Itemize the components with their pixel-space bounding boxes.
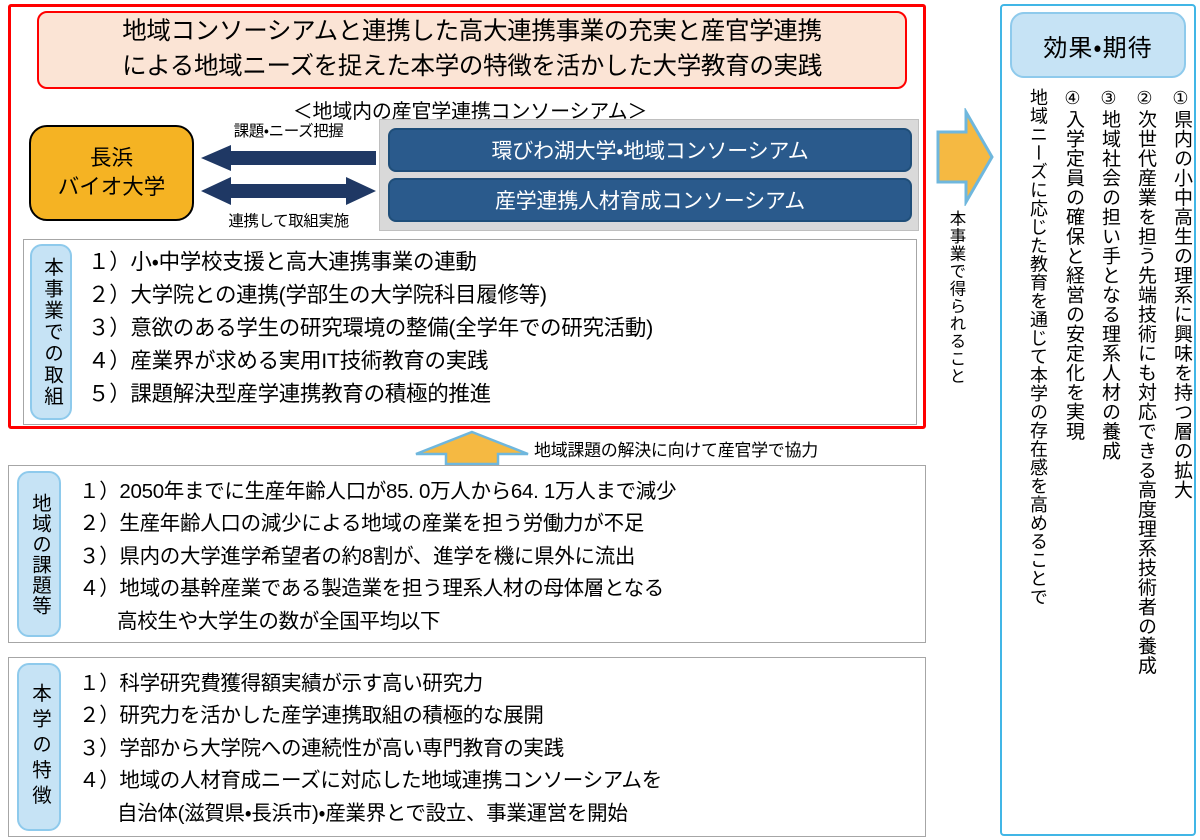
- effect-text-2: 次世代産業を担う先端技術にも対応できる高度理系技術者の養成: [1135, 110, 1156, 676]
- consortium-member-2: 産学連携人材育成コンソーシアム: [388, 178, 912, 222]
- effects-panel-heading: 効果・期待: [1010, 12, 1186, 78]
- list-item: 自治体(滋賀県・長浜市)・産業界とで設立、事業運営を開始: [79, 798, 919, 830]
- effect-column-4: ④入学定員の確保と経営の安定化を実現: [1053, 88, 1083, 441]
- consortium-member-1: 環びわ湖大学・地域コンソーシアム: [388, 128, 912, 172]
- list-item: ２）大学院との連携(学部生の大学院科目履修等): [88, 279, 912, 312]
- effect-number-4: ④: [1064, 88, 1082, 110]
- list-item: ４）地域の人材育成ニーズに対応した地域連携コンソーシアムを: [79, 765, 919, 797]
- list-item: １）科学研究費獲得額実績が示す高い研究力: [79, 668, 919, 700]
- effect-text-4: 入学定員の確保と経営の安定化を実現: [1063, 110, 1084, 442]
- effect-column-3: ③地域社会の担い手となる理系人材の養成: [1089, 88, 1119, 461]
- consortium-member-group: 環びわ湖大学・地域コンソーシアム 産学連携人材育成コンソーシアム: [379, 119, 919, 231]
- main-diagram-column: 地域コンソーシアムと連携した高大連携事業の充実と産官学連携 による地域ニーズを捉…: [4, 2, 929, 838]
- list-item: ５）課題解決型産学連携教育の積極的推進: [88, 378, 912, 411]
- left-arrow-icon: [201, 145, 376, 171]
- effect-text-3: 地域社会の担い手となる理系人材の養成: [1099, 110, 1120, 461]
- university-name-line-1: 長浜: [90, 144, 133, 173]
- diagram-canvas: 地域コンソーシアムと連携した高大連携事業の充実と産官学連携 による地域ニーズを捉…: [0, 0, 1200, 840]
- list-item: １）小・中学校支援と高大連携事業の連動: [88, 246, 912, 279]
- effect-number-2: ②: [1136, 88, 1154, 110]
- regional-challenges-panel: 地域の課題等 １）2050年までに生産年齢人口が85. 0万人から64. 1万人…: [8, 465, 926, 643]
- page-title-line-2: による地域ニーズを捉えた本学の特徴を活かした大学教育の実践: [122, 50, 822, 85]
- up-arrow-icon: [412, 430, 532, 466]
- nagahama-bio-university-box: 長浜 バイオ大学: [29, 125, 194, 221]
- initiatives-tab-label: 本事業での取組: [30, 244, 72, 420]
- right-arrow-icon: [936, 108, 994, 206]
- list-item: ４）産業界が求める実用IT技術教育の実践: [88, 345, 912, 378]
- features-list: １）科学研究費獲得額実績が示す高い研究力 ２）研究力を活かした産学連携取組の積極…: [79, 668, 919, 830]
- effect-text-1: 県内の小中高生の理系に興味を持つ層の拡大: [1171, 110, 1192, 500]
- outcomes-arrow-group: 本事業で得られること: [936, 108, 996, 438]
- university-features-panel: 本学の特徴 １）科学研究費獲得額実績が示す高い研究力 ２）研究力を活かした産学連…: [8, 657, 926, 837]
- effect-number-1: ①: [1172, 88, 1190, 110]
- university-name-line-2: バイオ大学: [58, 173, 166, 202]
- effect-column-2: ②次世代産業を担う先端技術にも対応できる高度理系技術者の養成: [1125, 88, 1155, 675]
- list-item: ２）生産年齢人口の減少による地域の産業を担う労働力が不足: [79, 508, 919, 540]
- project-title-banner: 地域コンソーシアムと連携した高大連携事業の充実と産官学連携 による地域ニーズを捉…: [37, 11, 907, 89]
- effect-column-1: ①県内の小中高生の理系に興味を持つ層の拡大: [1161, 88, 1191, 500]
- project-outline-frame: 地域コンソーシアムと連携した高大連携事業の充実と産官学連携 による地域ニーズを捉…: [8, 4, 926, 429]
- university-consortium-arrows: 課題・ニーズ把握 連携して取組実施: [201, 119, 376, 231]
- collaboration-arrow-caption: 地域課題の解決に向けて産官学で協力: [534, 436, 818, 461]
- effect-text-5: 地域ニーズに応じた教育を通じて本学の存在感を高めることで: [1028, 88, 1048, 606]
- arrow-label-joint-implementation: 連携して取組実施: [201, 209, 376, 231]
- list-item: ２）研究力を活かした産学連携取組の積極的な展開: [79, 700, 919, 732]
- effects-columns: ①県内の小中高生の理系に興味を持つ層の拡大 ②次世代産業を担う先端技術にも対応で…: [1006, 88, 1194, 832]
- list-item: ３）県内の大学進学希望者の約8割が、進学を機に県外に流出: [79, 541, 919, 573]
- list-item: 高校生や大学生の数が全国平均以下: [79, 606, 919, 638]
- list-item: １）2050年までに生産年齢人口が85. 0万人から64. 1万人まで減少: [79, 476, 919, 508]
- effects-panel: 効果・期待 ①県内の小中高生の理系に興味を持つ層の拡大 ②次世代産業を担う先端技…: [1000, 4, 1196, 836]
- list-item: ３）学部から大学院への連続性が高い専門教育の実践: [79, 733, 919, 765]
- arrow-label-needs-grasp: 課題・ニーズ把握: [201, 119, 376, 141]
- page-title-line-1: 地域コンソーシアムと連携した高大連携事業の充実と産官学連携: [122, 15, 822, 50]
- effect-number-3: ③: [1100, 88, 1118, 110]
- collaboration-arrow-group: 地域課題の解決に向けて産官学で協力: [412, 430, 922, 470]
- outcomes-arrow-label: 本事業で得られること: [944, 210, 968, 385]
- initiatives-list: １）小・中学校支援と高大連携事業の連動 ２）大学院との連携(学部生の大学院科目履…: [88, 246, 912, 410]
- features-tab-label: 本学の特徴: [17, 663, 61, 831]
- effect-column-5: 地域ニーズに応じた教育を通じて本学の存在感を高めることで: [1017, 88, 1047, 606]
- list-item: ４）地域の基幹産業である製造業を担う理系人材の母体層となる: [79, 573, 919, 605]
- initiatives-block: 本事業での取組 １）小・中学校支援と高大連携事業の連動 ２）大学院との連携(学部…: [23, 239, 917, 425]
- list-item: ３）意欲のある学生の研究環境の整備(全学年での研究活動): [88, 312, 912, 345]
- double-arrow-icon: [201, 177, 376, 205]
- challenges-list: １）2050年までに生産年齢人口が85. 0万人から64. 1万人まで減少 ２）…: [79, 476, 919, 638]
- challenges-tab-label: 地域の課題等: [17, 471, 61, 637]
